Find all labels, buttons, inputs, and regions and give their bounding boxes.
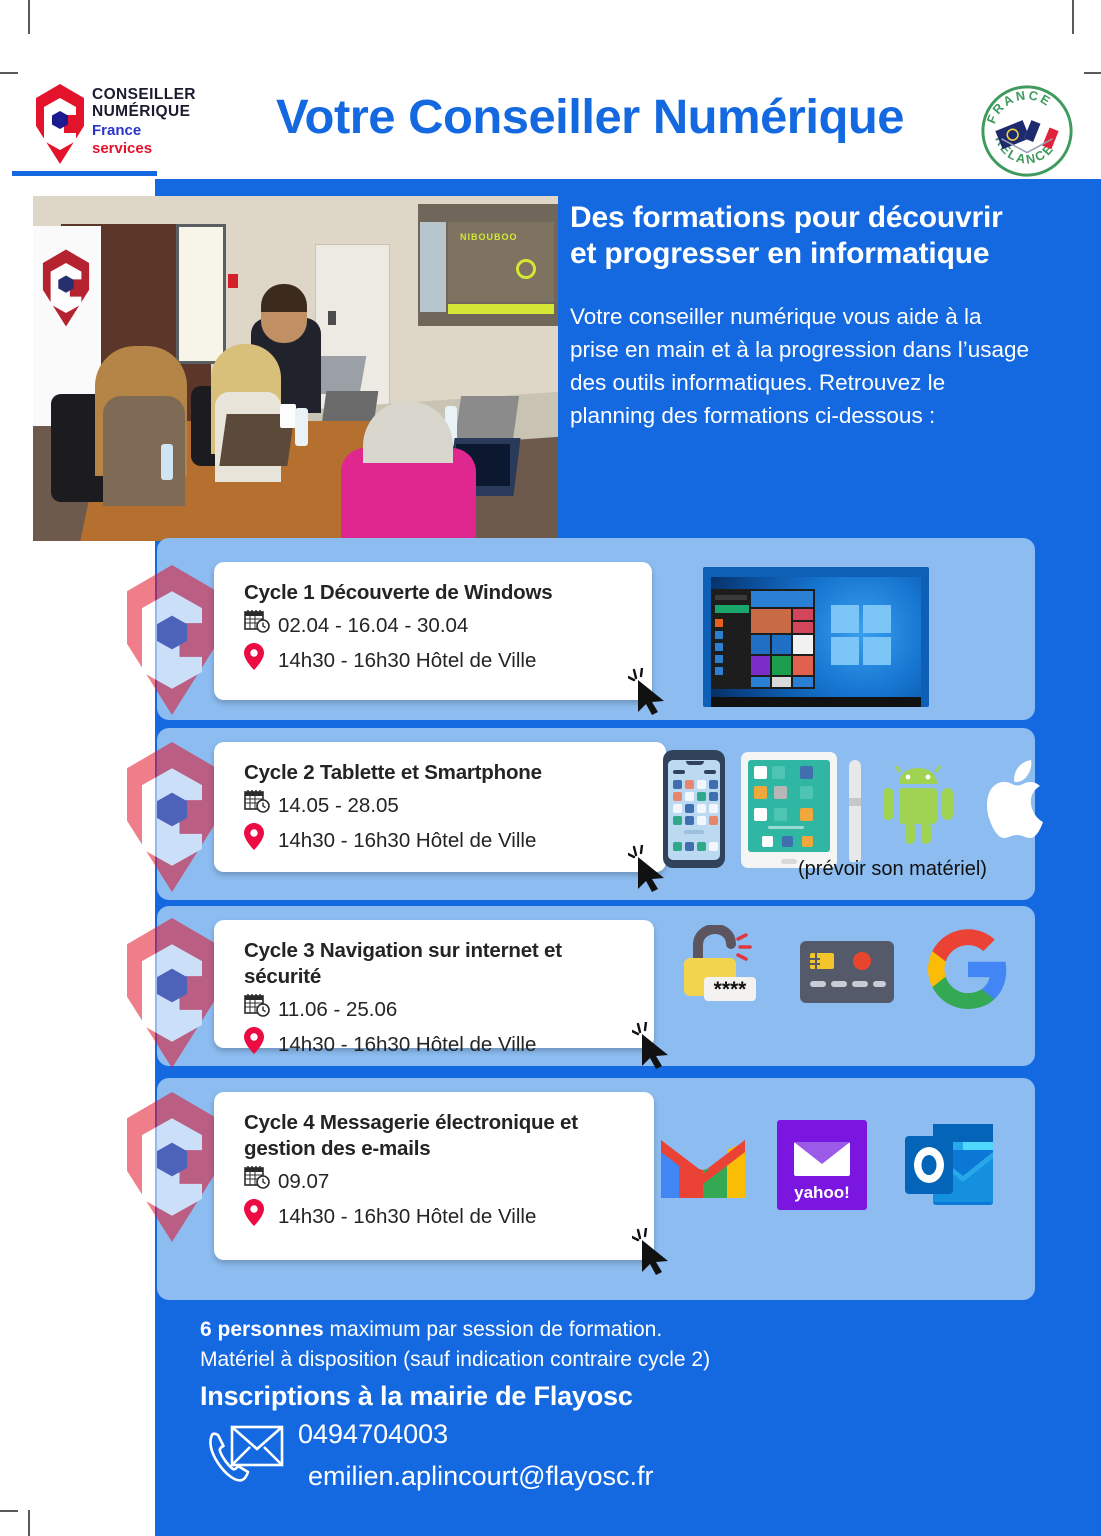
logo-line-services: services xyxy=(92,140,152,157)
cycle-2-location-line: 14h30 - 16h30 Hôtel de Ville xyxy=(244,823,644,859)
svg-text:FRANCE: FRANCE xyxy=(983,87,1055,125)
google-logo xyxy=(926,927,1010,1011)
page-title: Votre Conseiller Numérique xyxy=(218,90,963,145)
cycle-1-title: Cycle 1 Découverte de Windows xyxy=(244,580,630,606)
cycle-4-location-line: 14h30 - 16h30 Hôtel de Ville xyxy=(244,1199,632,1235)
phone-envelope-icon xyxy=(208,1425,284,1489)
map-pin-icon xyxy=(244,643,278,679)
yahoo-mail-logo: yahoo! xyxy=(777,1120,867,1210)
map-pin-icon xyxy=(244,823,278,859)
cycle-4-dates: 09.07 xyxy=(278,1167,329,1197)
max-participants-line: 6 personnes maximum par session de forma… xyxy=(200,1315,1030,1345)
cycle-3-location-line: 14h30 - 16h30 Hôtel de Ville xyxy=(244,1027,632,1063)
cycle-2-material-note: (prévoir son matériel) xyxy=(798,858,987,881)
yahoo-wordmark: yahoo! xyxy=(794,1183,850,1202)
apple-logo xyxy=(981,760,1053,848)
training-session-photo: NIBOUBOO xyxy=(33,196,558,541)
logo-line-numerique: NUMÉRIQUE xyxy=(92,103,190,120)
cycle-1-location: 14h30 - 16h30 Hôtel de Ville xyxy=(278,646,536,676)
cycle-card-4[interactable]: Cycle 4 Messagerie électronique et gesti… xyxy=(214,1092,654,1260)
logo-line-conseiller: CONSEILLER xyxy=(92,86,196,103)
cycle-1-location-line: 14h30 - 16h30 Hôtel de Ville xyxy=(244,643,630,679)
svg-text:****: **** xyxy=(714,978,748,1001)
max-participants-bold: 6 personnes xyxy=(200,1318,324,1341)
contact-phone[interactable]: 0494704003 xyxy=(298,1419,448,1450)
calendar-clock-icon xyxy=(244,608,278,643)
windows-desktop-screenshot xyxy=(703,567,929,707)
padlock-password-icon: **** xyxy=(678,925,764,1009)
cycle-1-icons xyxy=(703,567,929,707)
mouse-cursor-click-icon xyxy=(632,1228,678,1276)
crop-mark-top-right-v xyxy=(1072,0,1074,34)
calendar-clock-icon xyxy=(244,992,278,1027)
cycle-1-dates: 02.04 - 16.04 - 30.04 xyxy=(278,611,468,641)
cycle-2-location: 14h30 - 16h30 Hôtel de Ville xyxy=(278,826,536,856)
intro-block: Des formations pour découvrir et progres… xyxy=(570,200,1030,432)
contact-block: 0494704003 emilien.aplincourt@flayosc.fr xyxy=(200,1419,1030,1527)
calendar-clock-icon xyxy=(244,1164,278,1199)
outlook-logo xyxy=(903,1120,997,1210)
cycle-2-icons xyxy=(663,742,1063,874)
intro-heading: Des formations pour découvrir et progres… xyxy=(570,200,1030,272)
cycle-card-2[interactable]: Cycle 2 Tablette et Smartphone 14.05 - 2… xyxy=(214,742,666,872)
top-blue-rule xyxy=(12,171,157,176)
inscriptions-line: Inscriptions à la mairie de Flayosc xyxy=(200,1375,1030,1417)
mouse-cursor-click-icon xyxy=(628,845,674,893)
crop-mark-bottom-left-h xyxy=(0,1510,18,1512)
cycle-4-title: Cycle 4 Messagerie électronique et gesti… xyxy=(244,1110,632,1162)
cycle-2-dates: 14.05 - 28.05 xyxy=(278,791,399,821)
max-participants-rest: maximum par session de formation. xyxy=(324,1318,662,1341)
material-line: Matériel à disposition (sauf indication … xyxy=(200,1345,1030,1375)
mouse-cursor-click-icon xyxy=(632,1022,678,1070)
cycle-3-title: Cycle 3 Navigation sur internet et sécur… xyxy=(244,938,632,990)
mouse-cursor-click-icon xyxy=(628,668,674,716)
android-logo xyxy=(881,766,955,846)
calendar-clock-icon xyxy=(244,788,278,823)
cycle-3-dates: 11.06 - 25.06 xyxy=(278,995,397,1025)
cycle-2-dates-line: 14.05 - 28.05 xyxy=(244,788,644,823)
cycle-3-icons: **** xyxy=(678,925,1018,1020)
cycle-4-icons: yahoo! xyxy=(655,1120,1005,1215)
cycle-1-dates-line: 02.04 - 16.04 - 30.04 xyxy=(244,608,630,643)
cycle-card-1[interactable]: Cycle 1 Découverte de Windows 02.04 - 16… xyxy=(214,562,652,700)
banner-pin-icon xyxy=(41,248,91,328)
cycle-3-dates-line: 11.06 - 25.06 xyxy=(244,992,632,1027)
cycle-4-location: 14h30 - 16h30 Hôtel de Ville xyxy=(278,1202,536,1232)
stylus-icon xyxy=(849,760,861,862)
crop-mark-bottom-left-v xyxy=(28,1510,30,1536)
crop-mark-top-left-v xyxy=(28,0,30,34)
cycle-2-title: Cycle 2 Tablette et Smartphone xyxy=(244,760,644,786)
contact-email[interactable]: emilien.aplincourt@flayosc.fr xyxy=(308,1461,654,1492)
cycle-3-location: 14h30 - 16h30 Hôtel de Ville xyxy=(278,1030,536,1060)
cycle-4-dates-line: 09.07 xyxy=(244,1164,632,1199)
credit-card-icon xyxy=(800,941,894,1003)
logo-line-france: France xyxy=(92,122,141,139)
map-pin-icon xyxy=(244,1199,278,1235)
intro-body: Votre conseiller numérique vous aide à l… xyxy=(570,300,1030,432)
map-pin-icon xyxy=(244,1027,278,1063)
gmail-logo xyxy=(655,1130,751,1202)
footer: 6 personnes maximum par session de forma… xyxy=(200,1315,1030,1527)
france-relance-logo: FRANCE RELANCE xyxy=(978,82,1076,180)
cycle-card-3[interactable]: Cycle 3 Navigation sur internet et sécur… xyxy=(214,920,654,1048)
conseiller-numerique-logo: CONSEILLER NUMÉRIQUE France services xyxy=(30,82,210,167)
tablet-icon xyxy=(741,752,837,868)
conseiller-numerique-pin-icon xyxy=(34,84,86,164)
header: CONSEILLER NUMÉRIQUE France services Vot… xyxy=(0,30,1101,170)
